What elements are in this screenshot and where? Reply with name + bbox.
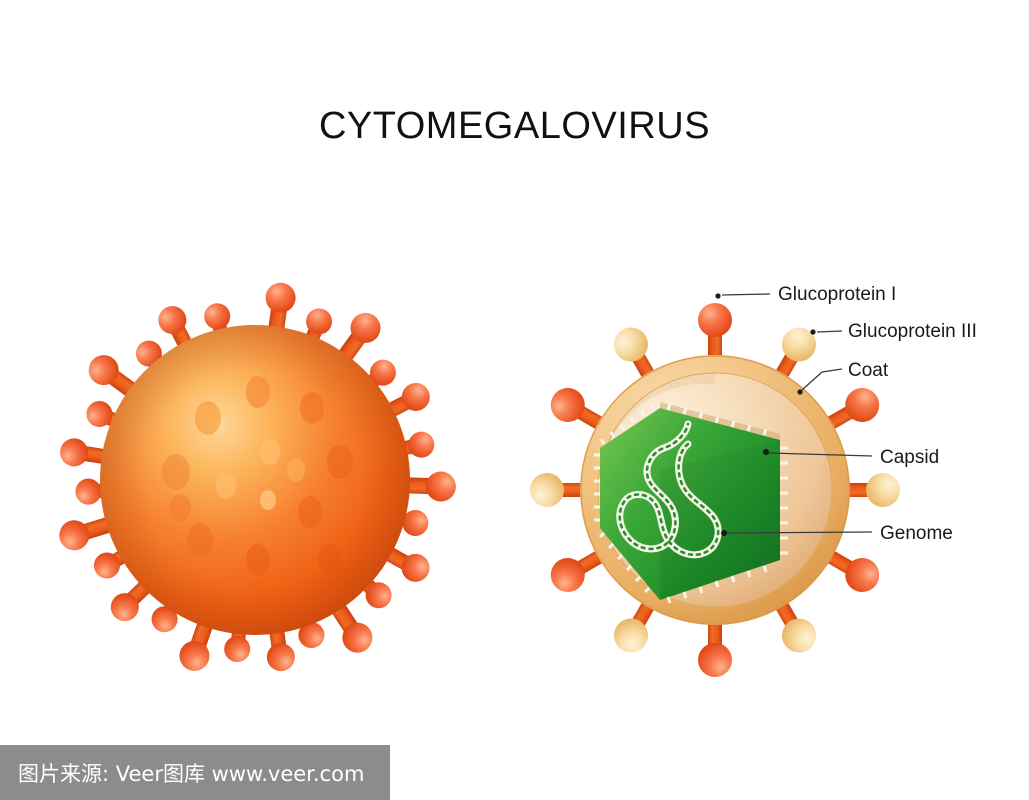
callout-line-coat-b (822, 369, 842, 372)
intact-virion-panel (56, 281, 457, 675)
virion-shading (100, 325, 410, 635)
label-capsid: Capsid (880, 447, 939, 468)
callout-dot-capsid (763, 449, 769, 455)
label-coat: Coat (848, 360, 889, 381)
cross-section-panel (530, 303, 900, 677)
callout-dot-coat (797, 389, 802, 394)
callout-line-glucoprotein-i (722, 294, 770, 295)
label-genome: Genome (880, 523, 953, 544)
callout-dot-glucoprotein-i (715, 293, 720, 298)
callout-line-coat-a (802, 372, 822, 390)
spike-orange (698, 303, 732, 364)
callout-dot-genome (721, 530, 727, 536)
watermark-bar: 图片来源: Veer图库 www.veer.com (0, 745, 390, 800)
watermark-text: 图片来源: Veer图库 www.veer.com (0, 758, 364, 788)
label-glucoprotein-iii: Glucoprotein III (848, 321, 977, 342)
spike-orange (698, 616, 732, 677)
callout-line-glucoprotein-iii (817, 331, 842, 332)
label-glucoprotein-i: Glucoprotein I (778, 284, 896, 305)
callout-dot-glucoprotein-iii (810, 329, 815, 334)
virus-figure: Glucoprotein I Glucoprotein III Coat Cap… (0, 0, 1029, 800)
diagram-page: CYTOMEGALOVIRUS (0, 0, 1029, 800)
